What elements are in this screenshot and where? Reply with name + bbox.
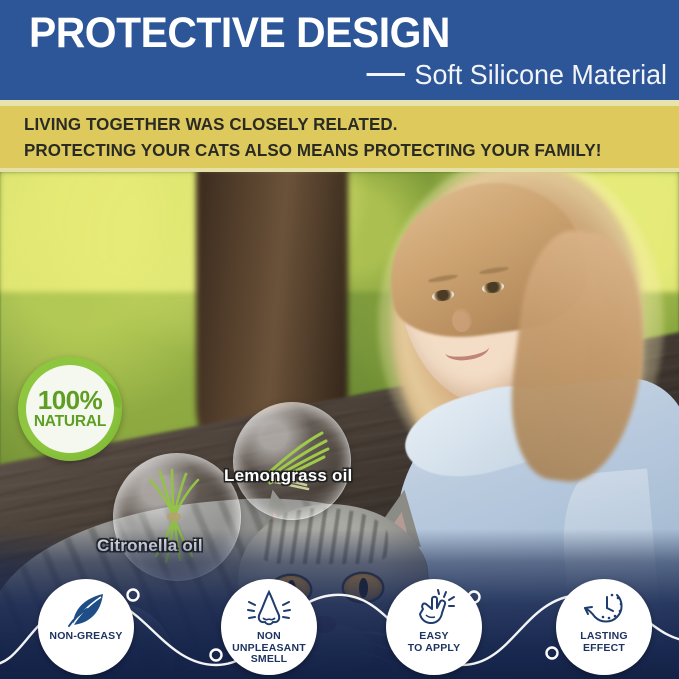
feature-badge-lasting-effect: LASTING EFFECT — [556, 579, 652, 675]
em-dash-rule — [367, 73, 405, 76]
feature-label-line1: LASTING — [580, 630, 627, 642]
product-infographic: PROTECTIVE DESIGN Soft Silicone Material… — [0, 0, 679, 679]
tagline-banner: LIVING TOGETHER WAS CLOSELY RELATED. PRO… — [0, 100, 679, 172]
natural-badge-face: 100% NATURAL — [26, 365, 114, 453]
feature-label-line3: SMELL — [251, 653, 288, 665]
feature-label: LASTING EFFECT — [580, 631, 627, 654]
natural-badge-word: NATURAL — [34, 413, 106, 430]
feature-badge-face: EASY TO APPLY — [386, 579, 482, 675]
feature-label-line1: NON — [257, 630, 281, 642]
leaf-icon — [63, 589, 109, 629]
natural-badge: 100% NATURAL — [18, 357, 122, 461]
clock-arrow-icon — [581, 589, 627, 629]
page-subtitle: Soft Silicone Material — [367, 58, 667, 92]
feature-label: NON-GREASY — [49, 631, 122, 643]
feature-badge-face: LASTING EFFECT — [556, 579, 652, 675]
girl-nose — [452, 308, 472, 332]
feature-badge-easy-apply: EASY TO APPLY — [386, 579, 482, 675]
lifestyle-photo: Lemongrass oil Citronella oil Clove oil … — [0, 172, 679, 679]
header-bar: PROTECTIVE DESIGN Soft Silicone Material — [0, 0, 679, 100]
nose-icon — [246, 589, 292, 629]
feature-label-line2: UNPLEASANT — [232, 642, 306, 654]
feature-badge-face: NON-GREASY — [38, 579, 134, 675]
feature-badge-no-smell: NON UNPLEASANT SMELL — [221, 579, 317, 675]
ingredient-bubble-lemongrass — [233, 402, 351, 520]
natural-badge-percent: 100% — [38, 388, 103, 413]
feature-badge-non-greasy: NON-GREASY — [38, 579, 134, 675]
tagline-line-2: PROTECTING YOUR CATS ALSO MEANS PROTECTI… — [24, 140, 601, 161]
tagline-line-1: LIVING TOGETHER WAS CLOSELY RELATED. — [24, 114, 398, 135]
feature-label: EASY TO APPLY — [408, 631, 461, 654]
lemongrass-sprig-icon — [234, 403, 350, 519]
feature-label-line2: TO APPLY — [408, 642, 461, 654]
feature-badge-face: NON UNPLEASANT SMELL — [221, 579, 317, 675]
feature-label-line2: EFFECT — [583, 642, 625, 654]
page-title: PROTECTIVE DESIGN — [29, 8, 450, 58]
ingredient-label-lemongrass: Lemongrass oil — [224, 466, 352, 486]
subtitle-text: Soft Silicone Material — [415, 59, 667, 90]
feature-label: NON UNPLEASANT SMELL — [232, 631, 306, 666]
feature-label-line1: EASY — [419, 630, 448, 642]
snapping-hand-icon — [411, 589, 457, 629]
